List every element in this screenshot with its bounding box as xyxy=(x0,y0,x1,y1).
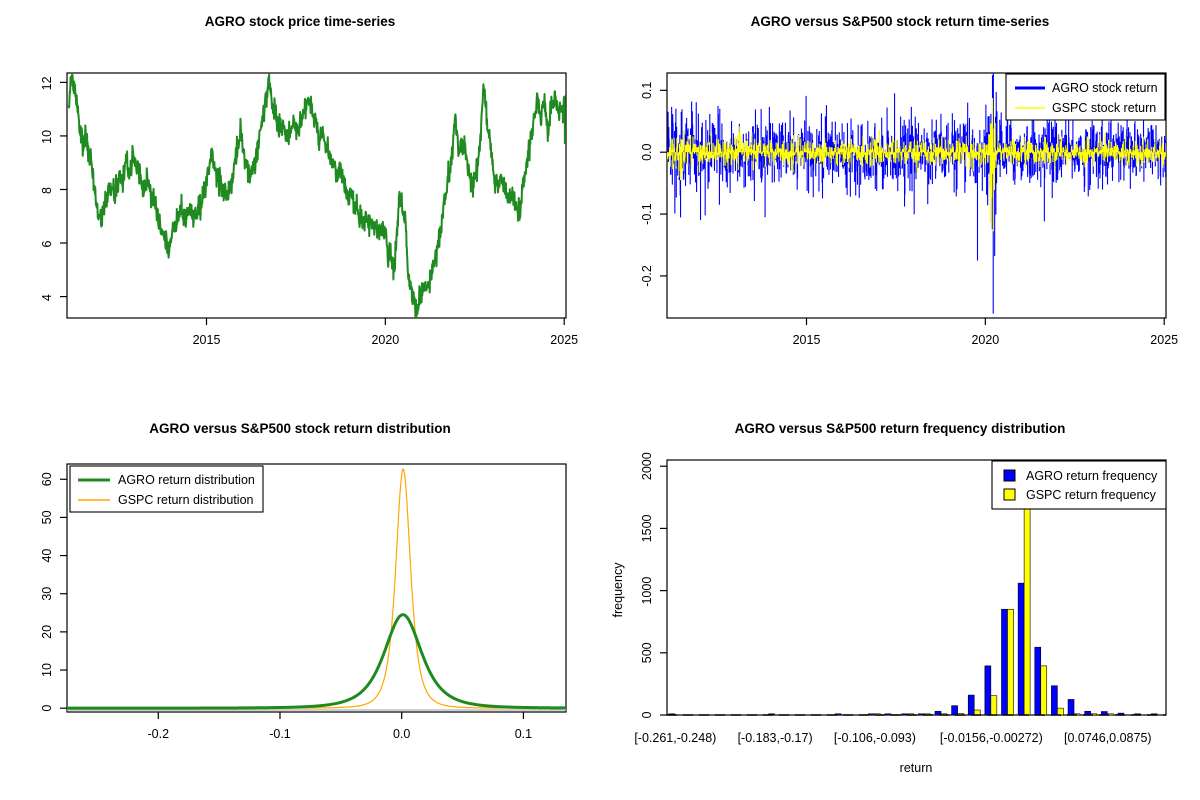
panel-return-series: AGRO versus S&P500 stock return time-ser… xyxy=(600,0,1200,400)
return-series-xaxis: 201520202025 xyxy=(793,318,1179,347)
x-tick-label: -0.2 xyxy=(148,727,170,741)
legend-label-agro-frequency: AGRO return frequency xyxy=(1026,469,1158,483)
frequency-bars xyxy=(669,509,1157,715)
x-tick-label: 0.1 xyxy=(515,727,532,741)
frequency-bar xyxy=(868,714,874,715)
x-tick-label: [-0.183,-0.17) xyxy=(738,731,813,745)
frequency-bar xyxy=(1018,583,1024,715)
frequency-bar xyxy=(1024,509,1030,715)
frequency-xaxis: [-0.261,-0.248)[-0.183,-0.17)[-0.106,-0.… xyxy=(634,731,1151,745)
density-legend: AGRO return distribution GSPC return dis… xyxy=(70,466,263,512)
x-tick-label: [-0.261,-0.248) xyxy=(634,731,716,745)
return-series-yaxis: -0.2-0.10.00.1 xyxy=(640,82,667,287)
y-tick-label: 8 xyxy=(40,187,54,194)
panel-return-frequency: AGRO versus S&P500 return frequency dist… xyxy=(600,400,1200,800)
y-tick-label: 12 xyxy=(40,76,54,90)
x-tick-label: [-0.0156,-0.00272) xyxy=(940,731,1043,745)
frequency-bar xyxy=(1068,699,1074,715)
x-tick-label: [0.0746,0.0875) xyxy=(1064,731,1152,745)
panel-return-density: AGRO versus S&P500 stock return distribu… xyxy=(0,400,600,800)
frequency-bar xyxy=(1002,609,1008,715)
y-tick-label: 1500 xyxy=(640,514,654,542)
y-tick-label: 0.1 xyxy=(640,82,654,99)
agro-price-plot: AGRO stock price time-series 4681012 201… xyxy=(0,0,600,400)
panel-title-return-series: AGRO versus S&P500 stock return time-ser… xyxy=(751,14,1050,29)
return-series-plot: AGRO versus S&P500 stock return time-ser… xyxy=(600,0,1200,400)
legend-label-gspc-return: GSPC stock return xyxy=(1052,101,1156,115)
legend-swatch-agro-frequency xyxy=(1004,470,1015,481)
frequency-bar xyxy=(968,695,974,715)
y-tick-label: -0.2 xyxy=(640,265,654,287)
y-tick-label: 500 xyxy=(640,642,654,663)
y-tick-label: 4 xyxy=(40,294,54,301)
x-tick-label: 2015 xyxy=(193,333,221,347)
x-tick-label: 2025 xyxy=(1150,333,1178,347)
x-tick-label: 2020 xyxy=(971,333,999,347)
x-tick-label: 2015 xyxy=(793,333,821,347)
agro-density-curve xyxy=(67,615,566,708)
y-tick-label: 60 xyxy=(40,472,54,486)
density-xaxis: -0.2-0.10.00.1 xyxy=(148,712,533,741)
density-yaxis: 0102030405060 xyxy=(40,472,67,711)
y-tick-label: 2000 xyxy=(640,452,654,480)
x-tick-label: 2020 xyxy=(371,333,399,347)
return-density-plot: AGRO versus S&P500 stock return distribu… xyxy=(0,400,600,800)
y-tick-label: 20 xyxy=(40,625,54,639)
panel-title-return-density: AGRO versus S&P500 stock return distribu… xyxy=(149,421,451,436)
return-frequency-plot: AGRO versus S&P500 return frequency dist… xyxy=(600,400,1200,800)
return-axis-label: return xyxy=(900,761,933,775)
panel-agro-price: AGRO stock price time-series 4681012 201… xyxy=(0,0,600,400)
frequency-bar xyxy=(1041,666,1047,715)
frequency-bar xyxy=(991,696,997,715)
frequency-bar xyxy=(1007,609,1013,715)
y-tick-label: 50 xyxy=(40,510,54,524)
y-tick-label: -0.1 xyxy=(640,203,654,225)
legend-swatch-gspc-frequency xyxy=(1004,489,1015,500)
agro-price-xaxis: 201520202025 xyxy=(193,318,579,347)
y-tick-label: 6 xyxy=(40,241,54,248)
frequency-bar xyxy=(1035,647,1041,715)
legend-label-agro-return: AGRO stock return xyxy=(1052,81,1158,95)
frequency-bar xyxy=(952,706,958,715)
legend-label-gspc-density: GSPC return distribution xyxy=(118,493,254,507)
frequency-bar xyxy=(885,714,891,715)
y-tick-label: 10 xyxy=(40,130,54,144)
frequency-bar xyxy=(902,714,908,715)
frequency-bar xyxy=(985,666,991,715)
y-tick-label: 30 xyxy=(40,587,54,601)
frequency-yaxis: 0500100015002000 xyxy=(640,452,667,718)
r-plot-canvas: AGRO stock price time-series 4681012 201… xyxy=(0,0,1200,800)
legend-label-gspc-frequency: GSPC return frequency xyxy=(1026,488,1157,502)
x-tick-label: 2025 xyxy=(550,333,578,347)
panel-title-return-frequency: AGRO versus S&P500 return frequency dist… xyxy=(735,421,1066,436)
y-tick-label: 10 xyxy=(40,663,54,677)
agro-price-line xyxy=(69,72,565,319)
agro-price-yaxis: 4681012 xyxy=(40,76,67,301)
panel-title-agro-price: AGRO stock price time-series xyxy=(205,14,396,29)
y-tick-label: 0 xyxy=(640,711,654,718)
frequency-bar xyxy=(1057,708,1063,715)
y-tick-label: 40 xyxy=(40,549,54,563)
x-tick-label: 0.0 xyxy=(393,727,410,741)
frequency-bar xyxy=(1051,686,1057,715)
frequency-axis-label: frequency xyxy=(611,562,625,618)
return-series-legend: AGRO stock return GSPC stock return xyxy=(1006,74,1165,120)
y-tick-label: 0.0 xyxy=(640,143,654,160)
x-tick-label: [-0.106,-0.093) xyxy=(834,731,916,745)
y-tick-label: 0 xyxy=(40,705,54,712)
frequency-legend: AGRO return frequency GSPC return freque… xyxy=(992,461,1166,509)
x-tick-label: -0.1 xyxy=(269,727,291,741)
legend-label-agro-density: AGRO return distribution xyxy=(118,473,255,487)
y-tick-label: 1000 xyxy=(640,577,654,605)
